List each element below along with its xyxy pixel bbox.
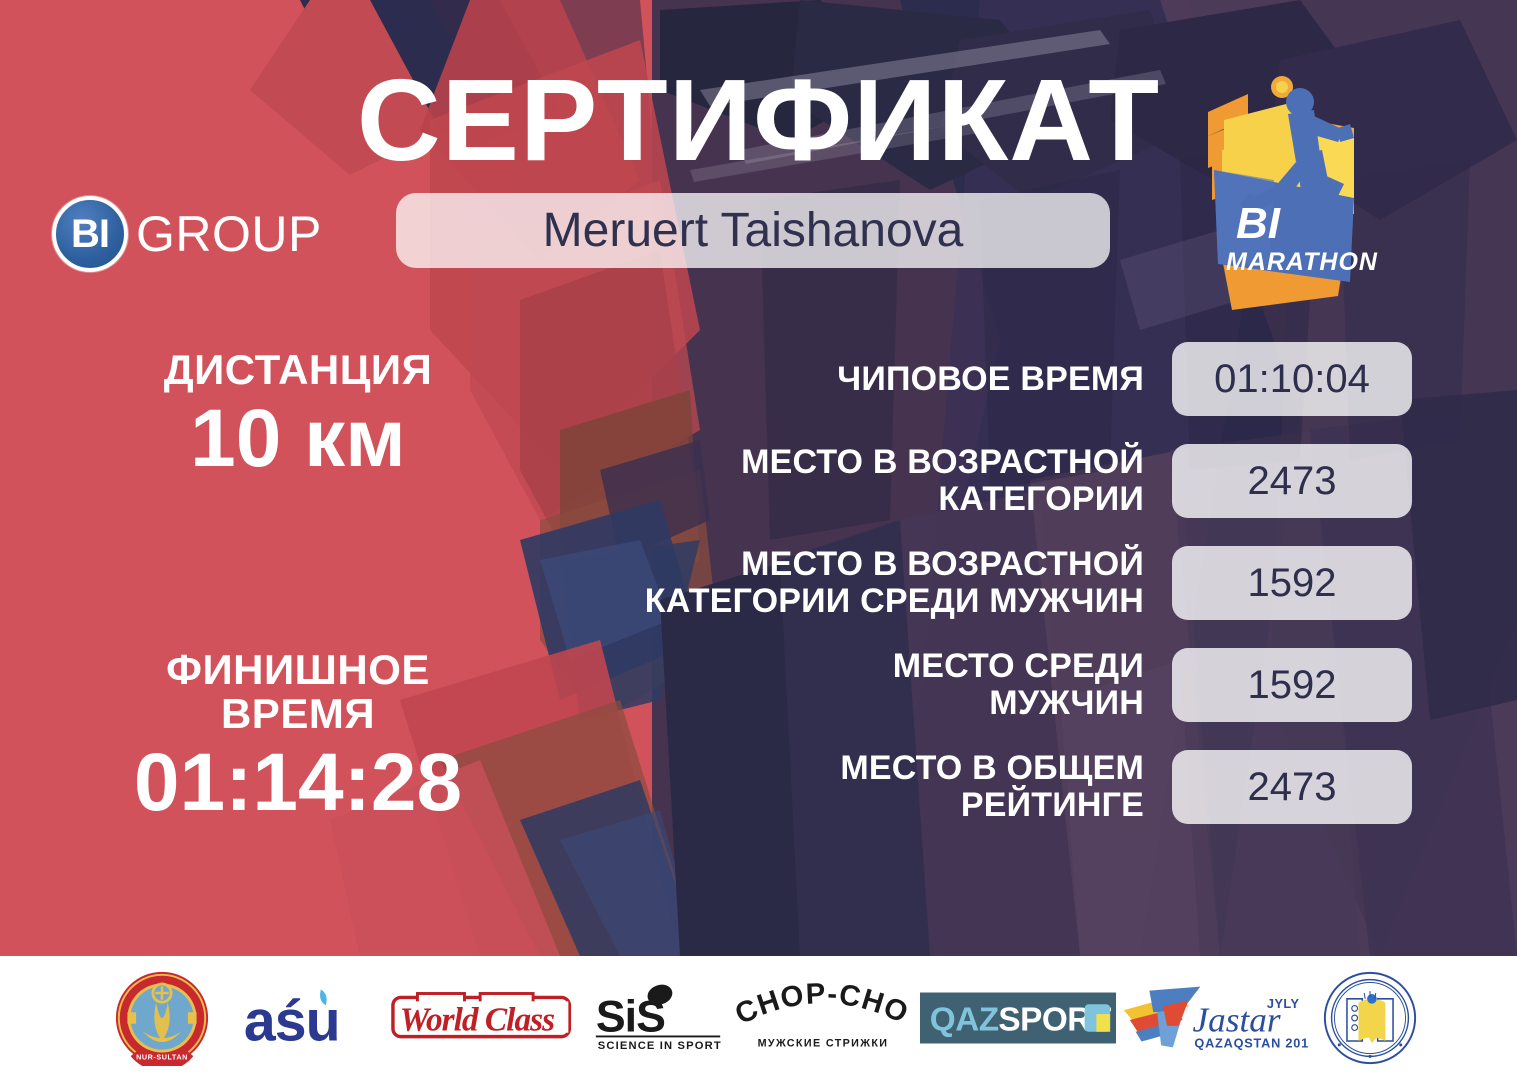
stat-label: МЕСТО СРЕДИ МУЖЧИН — [600, 648, 1172, 721]
sponsor-nur-sultan-emblem: NUR-SULTAN — [88, 968, 236, 1068]
stat-value: 01:10:04 — [1214, 357, 1370, 402]
sponsor-jastar: Jastar JYLY QAZAQSTAN 2019 — [1118, 968, 1310, 1068]
bi-marathon-logo: BI MARATHON — [1178, 58, 1393, 316]
chop-chop-icon: CHOP-CHOP МУЖСКИЕ СТРИЖКИ — [730, 983, 916, 1053]
ministry-seal-icon — [1322, 970, 1418, 1066]
stat-value: 1592 — [1248, 663, 1337, 708]
bi-group-logo: BI GROUP — [52, 196, 322, 272]
stat-value-pill: 2473 — [1172, 750, 1412, 824]
world-class-icon: World Class — [390, 987, 586, 1049]
sponsor-ministry-seal — [1310, 968, 1430, 1068]
stat-label: ЧИПОВОЕ ВРЕМЯ — [600, 361, 1172, 398]
stat-label: МЕСТО В ОБЩЕМ РЕЙТИНГЕ — [600, 750, 1172, 823]
table-row: МЕСТО В ВОЗРАСТНОЙ КАТЕГОРИИ СРЕДИ МУЖЧИ… — [600, 546, 1412, 620]
jastar-sup: JYLY — [1266, 996, 1299, 1011]
finish-time-label: ФИНИШНОЕ ВРЕМЯ — [103, 648, 493, 736]
bi-badge-text: BI — [71, 214, 109, 254]
sponsor-asu: aśu — [236, 968, 388, 1068]
stat-value-pill: 1592 — [1172, 648, 1412, 722]
bi-group-wordmark: GROUP — [136, 205, 322, 263]
jastar-sub: QAZAQSTAN 2019 — [1194, 1035, 1308, 1050]
chop-chop-tagline: МУЖСКИЕ СТРИЖКИ — [757, 1037, 888, 1049]
stat-label: МЕСТО В ВОЗРАСТНОЙ КАТЕГОРИИ СРЕДИ МУЖЧИ… — [600, 546, 1172, 619]
asu-wordmark: aśu — [243, 990, 339, 1053]
sponsor-chop-chop: CHOP-CHOP МУЖСКИЕ СТРИЖКИ — [728, 968, 918, 1068]
stat-value: 2473 — [1248, 765, 1337, 810]
participant-name: Meruert Taishanova — [543, 203, 964, 258]
participant-name-pill: Meruert Taishanova — [396, 193, 1110, 268]
finish-time-value: 01:14:28 — [103, 740, 493, 826]
table-row: МЕСТО СРЕДИ МУЖЧИН 1592 — [600, 648, 1412, 722]
stats-list: ЧИПОВОЕ ВРЕМЯ 01:10:04 МЕСТО В ВОЗРАСТНО… — [600, 342, 1412, 824]
sponsor-world-class: World Class — [388, 968, 588, 1068]
distance-value: 10 км — [103, 396, 493, 482]
sponsor-strip: NUR-SULTAN aśu World Class — [0, 956, 1517, 1080]
sponsor-sis: SiS SCIENCE IN SPORT — [588, 968, 728, 1068]
world-class-wordmark: World Class — [399, 1002, 553, 1039]
table-row: МЕСТО В ОБЩЕМ РЕЙТИНГЕ 2473 — [600, 750, 1412, 824]
stat-label: МЕСТО В ВОЗРАСТНОЙ КАТЕГОРИИ — [600, 444, 1172, 517]
bi-badge-icon: BI — [52, 196, 128, 272]
table-row: ЧИПОВОЕ ВРЕМЯ 01:10:04 — [600, 342, 1412, 416]
sis-wordmark: SiS — [595, 993, 664, 1042]
sponsor-qazsport: QAZ SPORT — [918, 968, 1118, 1068]
bi-marathon-icon: BI MARATHON — [1178, 58, 1393, 316]
jastar-icon: Jastar JYLY QAZAQSTAN 2019 — [1120, 982, 1308, 1054]
sis-tagline: SCIENCE IN SPORT — [597, 1040, 721, 1052]
stat-value-pill: 2473 — [1172, 444, 1412, 518]
sis-icon: SiS SCIENCE IN SPORT — [590, 982, 726, 1054]
nur-sultan-icon: NUR-SULTAN — [114, 970, 210, 1066]
stat-value: 2473 — [1248, 459, 1337, 504]
finish-time-block: ФИНИШНОЕ ВРЕМЯ 01:14:28 — [103, 648, 493, 826]
asu-icon: aśu — [238, 983, 386, 1053]
chop-chop-wordmark: CHOP-CHOP — [730, 983, 914, 1031]
svg-text:BI: BI — [1236, 199, 1281, 248]
table-row: МЕСТО В ВОЗРАСТНОЙ КАТЕГОРИИ 2473 — [600, 444, 1412, 518]
stat-value: 1592 — [1248, 561, 1337, 606]
nur-sultan-label: NUR-SULTAN — [136, 1052, 188, 1061]
qazsport-icon: QAZ SPORT — [920, 992, 1116, 1044]
distance-block: ДИСТАНЦИЯ 10 км — [103, 348, 493, 482]
svg-text:MARATHON: MARATHON — [1226, 248, 1378, 276]
artwork-background: СЕРТИФИКАТ Meruert Taishanova BI GROUP — [0, 0, 1517, 956]
certificate: СЕРТИФИКАТ Meruert Taishanova BI GROUP — [0, 0, 1517, 1080]
stat-value-pill: 01:10:04 — [1172, 342, 1412, 416]
stat-value-pill: 1592 — [1172, 546, 1412, 620]
distance-label: ДИСТАНЦИЯ — [103, 348, 493, 392]
qazsport-qaz: QAZ — [929, 1002, 998, 1039]
